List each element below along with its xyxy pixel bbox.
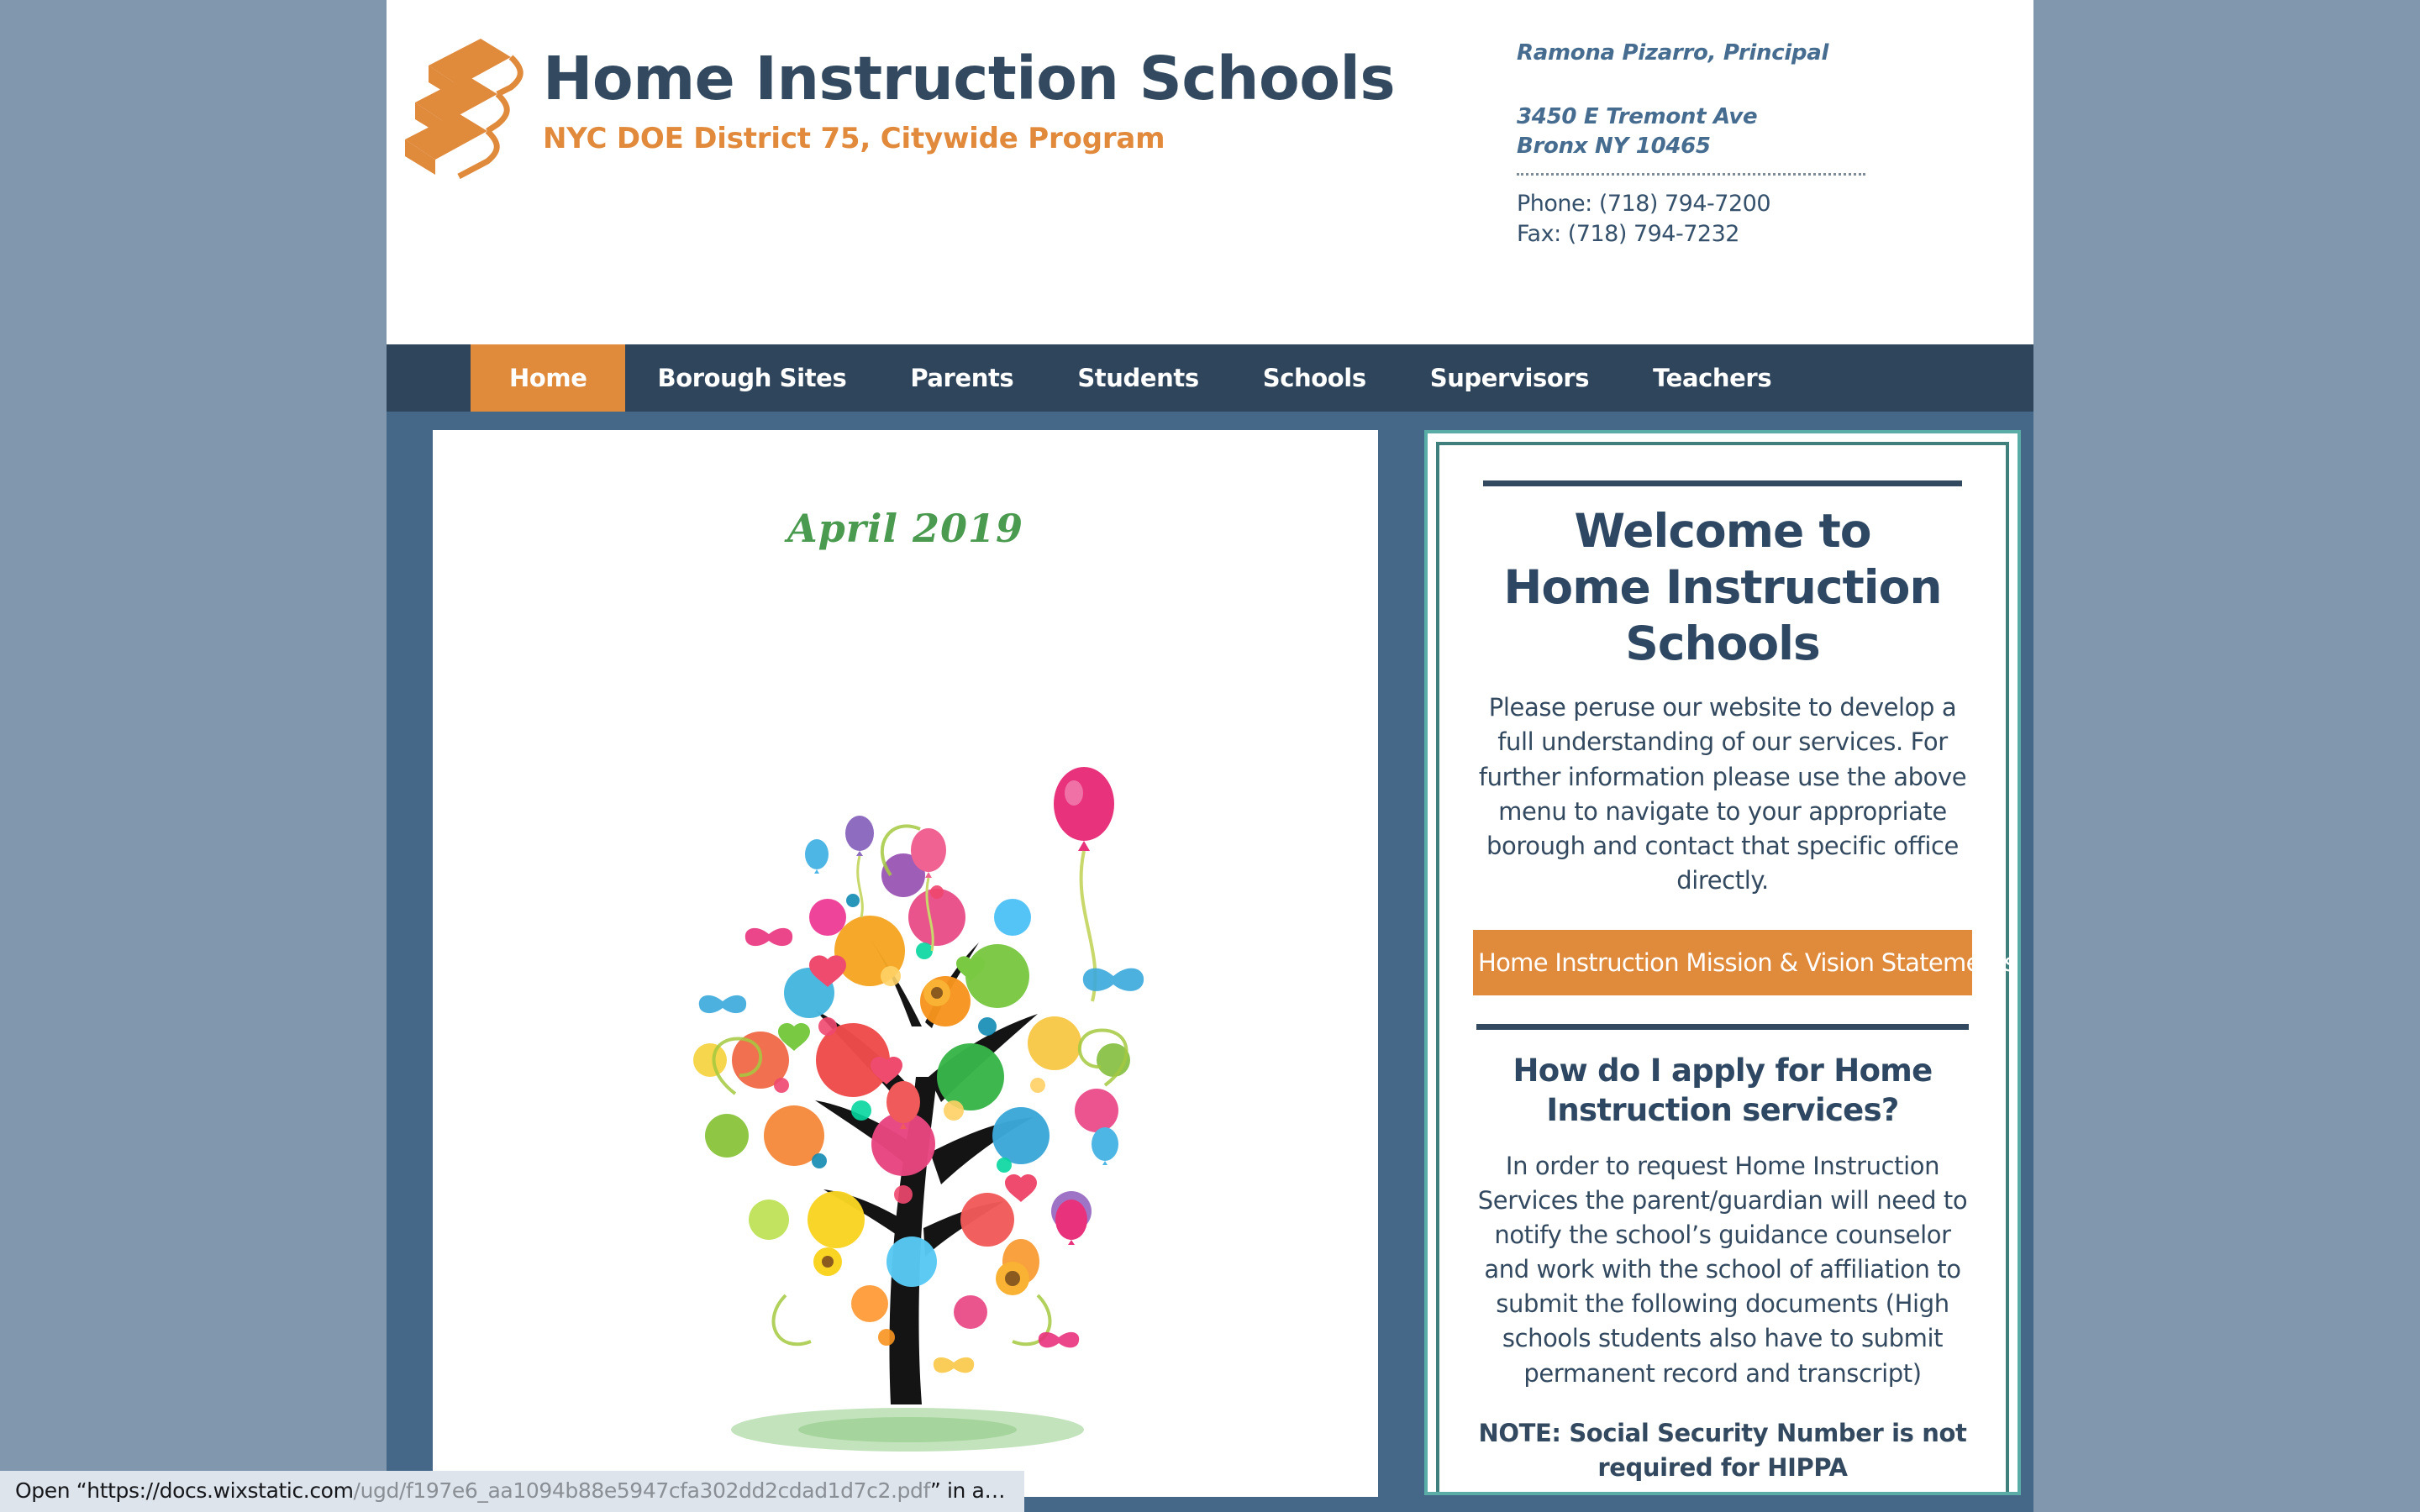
- contact-divider: [1517, 173, 1865, 176]
- welcome-panel: Welcome to Home Instruction Schools Plea…: [1424, 430, 2021, 1495]
- chevron-right-icon: [1299, 959, 1344, 1035]
- fax-number: Fax: (718) 794-7232: [1517, 219, 1878, 250]
- panel-title-line-3: Schools: [1473, 616, 1972, 672]
- nav-item-schools[interactable]: Schools: [1231, 344, 1398, 412]
- contact-phone-block: Phone: (718) 794-7200 Fax: (718) 794-723…: [1517, 189, 1878, 250]
- site-header: Home Instruction Schools NYC DOE Distric…: [387, 0, 2033, 344]
- mission-vision-button[interactable]: Home Instruction Mission & Vision Statem…: [1473, 930, 1972, 995]
- nav-item-parents[interactable]: Parents: [878, 344, 1045, 412]
- main-navigation: Home Borough Sites Parents Students Scho…: [387, 344, 2033, 412]
- browser-page: Home Instruction Schools NYC DOE Distric…: [0, 0, 2420, 1512]
- nav-item-home[interactable]: Home: [471, 344, 625, 412]
- school-address: 3450 E Tremont Ave Bronx NY 10465: [1517, 102, 1878, 161]
- slideshow-next-button[interactable]: [1299, 959, 1344, 1035]
- panel-top-divider: [1483, 480, 1962, 486]
- apply-heading: How do I apply for Home Instruction serv…: [1473, 1052, 1972, 1130]
- slide-image-flower-tree: [433, 556, 1378, 1497]
- panel-intro-text: Please peruse our website to develop a f…: [1473, 690, 1972, 898]
- site-title: Home Instruction Schools: [543, 49, 1395, 108]
- link-status-bar: Open “https://docs.wixstatic.com/ugd/f19…: [0, 1471, 1024, 1512]
- hippa-note: NOTE: Social Security Number is not requ…: [1473, 1416, 1972, 1485]
- phone-number: Phone: (718) 794-7200: [1517, 189, 1878, 220]
- chevron-left-icon: [466, 959, 512, 1035]
- nav-item-supervisors[interactable]: Supervisors: [1398, 344, 1621, 412]
- panel-title-line-2: Home Instruction: [1473, 559, 1972, 616]
- nav-item-borough-sites[interactable]: Borough Sites: [625, 344, 878, 412]
- apply-body-text: In order to request Home Instruction Ser…: [1473, 1149, 1972, 1391]
- status-url-suffix: ” in a new tab: [930, 1478, 1024, 1503]
- address-line-1: 3450 E Tremont Ave: [1517, 102, 1878, 132]
- nav-item-students[interactable]: Students: [1045, 344, 1230, 412]
- contact-block: Ramona Pizarro, Principal 3450 E Tremont…: [1517, 40, 1878, 250]
- nav-item-teachers[interactable]: Teachers: [1621, 344, 1803, 412]
- status-url-path: /ugd/f197e6_aa1094b88e5947cfa302dd2cdad1…: [354, 1478, 930, 1503]
- panel-title: Welcome to Home Instruction Schools: [1473, 503, 1972, 672]
- slideshow-prev-button[interactable]: [466, 959, 512, 1035]
- site-column: Home Instruction Schools NYC DOE Distric…: [387, 0, 2033, 1512]
- slide-month-caption: April 2019: [433, 506, 1378, 551]
- panel-mid-divider: [1476, 1024, 1969, 1030]
- address-line-2: Bronx NY 10465: [1517, 132, 1878, 161]
- slideshow[interactable]: April 2019: [433, 430, 1378, 1497]
- panel-title-line-1: Welcome to: [1473, 503, 1972, 559]
- site-subtitle: NYC DOE District 75, Citywide Program: [543, 122, 1395, 155]
- stacked-books-icon: [403, 32, 529, 179]
- brand-block[interactable]: Home Instruction Schools NYC DOE Distric…: [403, 32, 1395, 179]
- content-area: April 2019: [387, 412, 2033, 1512]
- welcome-panel-inner: Welcome to Home Instruction Schools Plea…: [1436, 442, 2009, 1495]
- status-url-prefix: Open “https://docs.wixstatic.com: [15, 1478, 354, 1503]
- principal-name: Ramona Pizarro, Principal: [1517, 40, 1878, 66]
